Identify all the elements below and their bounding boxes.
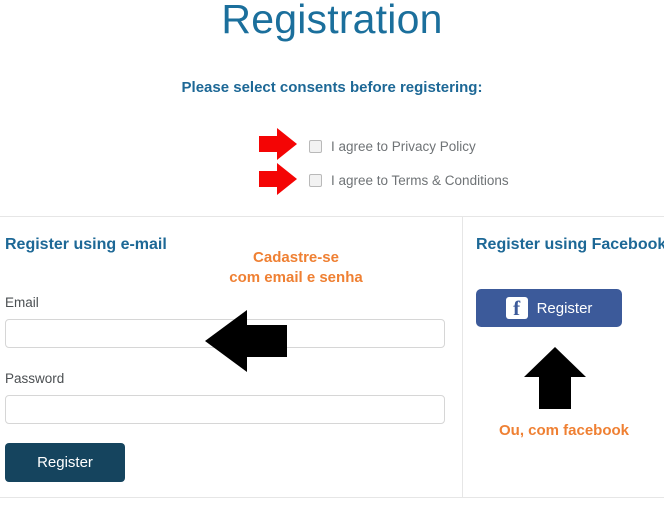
email-field-label: Email	[5, 295, 39, 310]
black-arrow-up-icon	[524, 347, 586, 409]
facebook-icon: f	[506, 297, 528, 319]
register-email-button[interactable]: Register	[5, 443, 125, 482]
password-field-label: Password	[5, 371, 64, 386]
page-title: Registration	[0, 0, 664, 43]
divider-bottom	[0, 497, 664, 498]
password-input[interactable]	[5, 395, 445, 424]
divider-vertical	[462, 217, 463, 497]
facebook-icon-glyph: f	[513, 298, 520, 319]
consent-label-privacy-policy: I agree to Privacy Policy	[331, 139, 476, 154]
arrow-head	[277, 128, 297, 160]
arrow-shaft	[245, 325, 287, 357]
red-arrow-right-icon-terms	[259, 163, 297, 195]
facebook-button-label: Register	[537, 300, 593, 317]
red-arrow-right-icon-privacy	[259, 128, 297, 160]
annotation-facebook-note: Ou, com facebook	[466, 421, 662, 441]
annotation-email-note: Cadastre-se com email e senha	[196, 248, 396, 288]
consent-row-terms-conditions[interactable]: I agree to Terms & Conditions	[309, 168, 509, 192]
facebook-section-title: Register using Facebook	[476, 236, 664, 254]
consent-list: I agree to Privacy Policy I agree to Ter…	[309, 134, 509, 202]
checkbox-privacy-policy[interactable]	[309, 140, 322, 153]
arrow-head	[277, 163, 297, 195]
consent-label-terms-conditions: I agree to Terms & Conditions	[331, 173, 509, 188]
consent-heading: Please select consents before registerin…	[0, 79, 664, 96]
consent-row-privacy-policy[interactable]: I agree to Privacy Policy	[309, 134, 509, 158]
arrow-shaft	[539, 373, 571, 409]
arrow-head	[205, 310, 247, 372]
register-facebook-button[interactable]: f Register	[476, 289, 622, 327]
black-arrow-left-icon	[205, 310, 287, 372]
divider-top	[0, 216, 664, 217]
checkbox-terms-conditions[interactable]	[309, 174, 322, 187]
